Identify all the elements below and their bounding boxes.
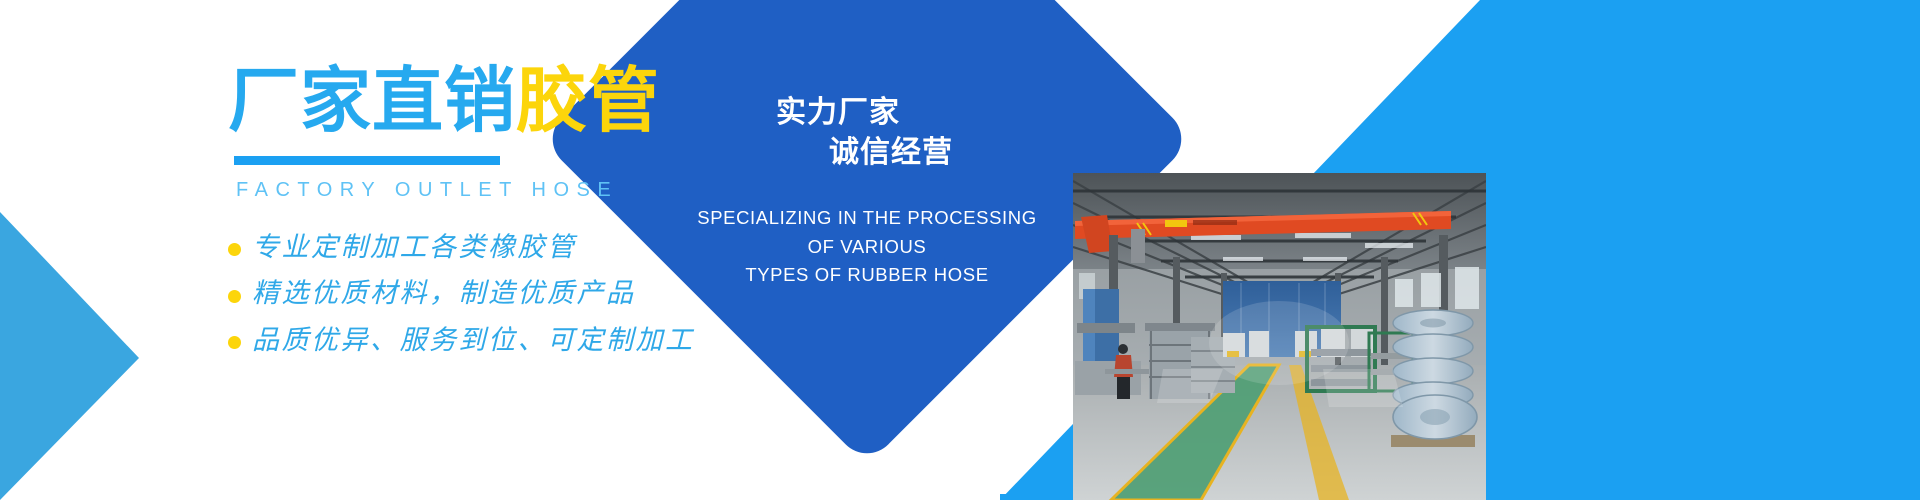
feature-list: 专业定制加工各类橡胶管 精选优质材料，制造优质产品 品质优异、服务到位、可定制加… (228, 232, 695, 357)
factory-photo-image (1073, 173, 1486, 500)
bullet-dot-icon (228, 243, 241, 256)
background-bottom-strip (0, 494, 1920, 500)
list-item: 品质优异、服务到位、可定制加工 (228, 325, 695, 357)
list-item: 专业定制加工各类橡胶管 (228, 232, 695, 264)
subtitle-english: FACTORY OUTLET HOSE (236, 179, 695, 202)
list-item-label: 精选优质材料，制造优质产品 (252, 278, 636, 310)
page-title-yellow-part: 胶管 (516, 62, 660, 141)
badge-english-line-2: OF VARIOUS (697, 233, 1036, 261)
title-underline-rule (234, 156, 500, 165)
badge-content: 实力厂家 诚信经营 SPECIALIZING IN THE PROCESSING… (636, 0, 1098, 370)
page-title: 厂家直销胶管 (228, 66, 695, 137)
list-item-label: 品质优异、服务到位、可定制加工 (252, 325, 695, 357)
page-title-blue-part: 厂家直销 (228, 62, 516, 141)
badge-english-text: SPECIALIZING IN THE PROCESSING OF VARIOU… (697, 204, 1036, 288)
bullet-dot-icon (228, 290, 241, 303)
factory-photo (1073, 173, 1486, 500)
badge-english-line-1: SPECIALIZING IN THE PROCESSING (697, 204, 1036, 232)
list-item-label: 专业定制加工各类橡胶管 (252, 232, 577, 264)
headline-block: 厂家直销胶管 FACTORY OUTLET HOSE 专业定制加工各类橡胶管 精… (228, 66, 695, 371)
badge-chinese-line-2: 诚信经营 (829, 133, 953, 173)
badge-chinese-line-1: 实力厂家 (776, 93, 900, 133)
bullet-dot-icon (228, 336, 241, 349)
list-item: 精选优质材料，制造优质产品 (228, 278, 695, 310)
badge-english-line-3: TYPES OF RUBBER HOSE (697, 261, 1036, 289)
promotional-banner: 实力厂家 诚信经营 SPECIALIZING IN THE PROCESSING… (0, 0, 1920, 500)
